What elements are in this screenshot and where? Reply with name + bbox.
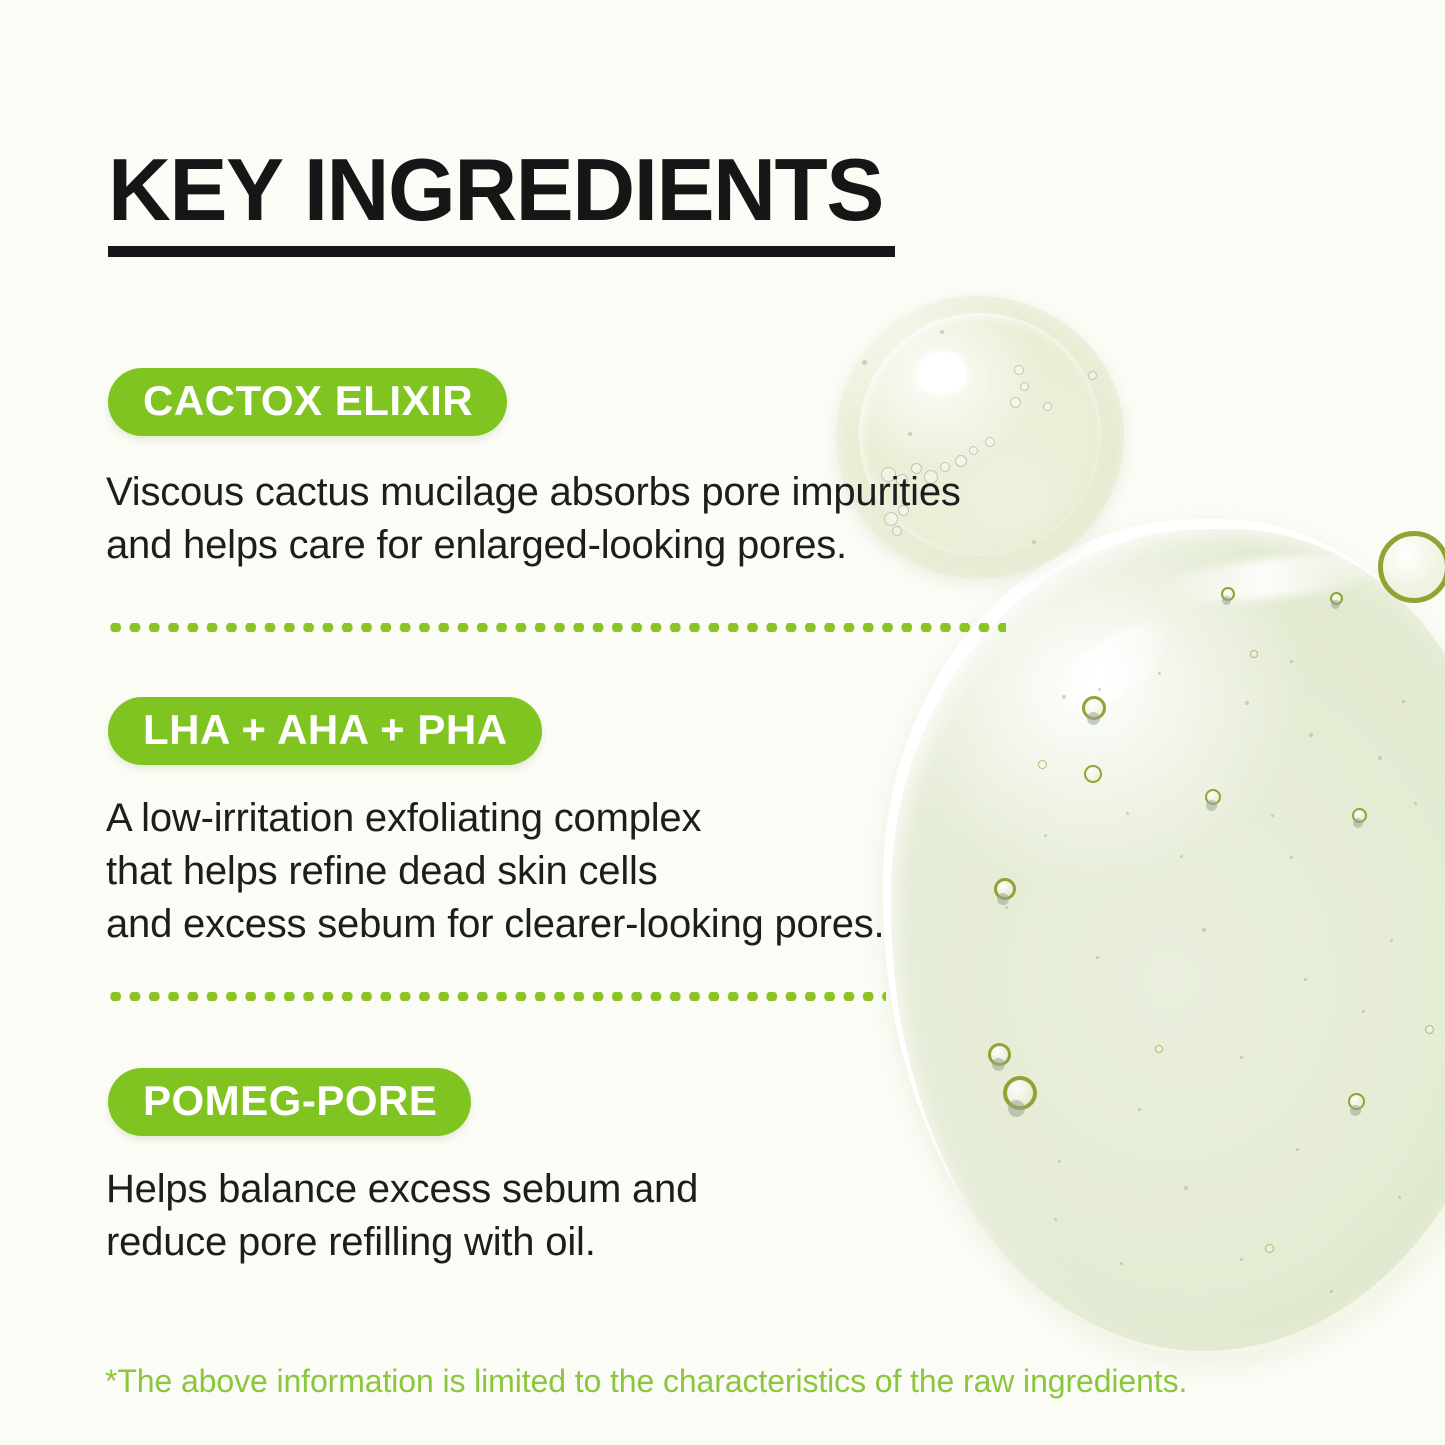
content-layer: KEY INGREDIENTS CACTOX ELIXIR Viscous ca…	[0, 0, 1445, 1445]
title-underline	[108, 246, 895, 257]
ingredient-badge-label: POMEG-PORE	[143, 1080, 437, 1122]
ingredient-badge-label: LHA + AHA + PHA	[143, 709, 508, 751]
ingredient-description-cactox-elixir: Viscous cactus mucilage absorbs pore imp…	[106, 466, 1106, 572]
ingredient-badge-lha-aha-pha[interactable]: LHA + AHA + PHA	[108, 697, 542, 765]
disclaimer-footnote: *The above information is limited to the…	[105, 1362, 1187, 1400]
page-title: KEY INGREDIENTS	[108, 148, 920, 232]
ingredient-badge-cactox-elixir[interactable]: CACTOX ELIXIR	[108, 368, 507, 436]
infographic-page: KEY INGREDIENTS CACTOX ELIXIR Viscous ca…	[0, 0, 1445, 1445]
dotted-divider	[106, 992, 886, 1001]
ingredient-badge-pomeg-pore[interactable]: POMEG-PORE	[108, 1068, 471, 1136]
ingredient-description-pomeg-pore: Helps balance excess sebum and reduce po…	[106, 1163, 866, 1269]
dotted-divider	[106, 623, 1006, 632]
ingredient-badge-label: CACTOX ELIXIR	[143, 380, 473, 422]
page-header: KEY INGREDIENTS	[108, 148, 928, 257]
ingredient-description-lha-aha-pha: A low-irritation exfoliating complex tha…	[106, 792, 1006, 952]
